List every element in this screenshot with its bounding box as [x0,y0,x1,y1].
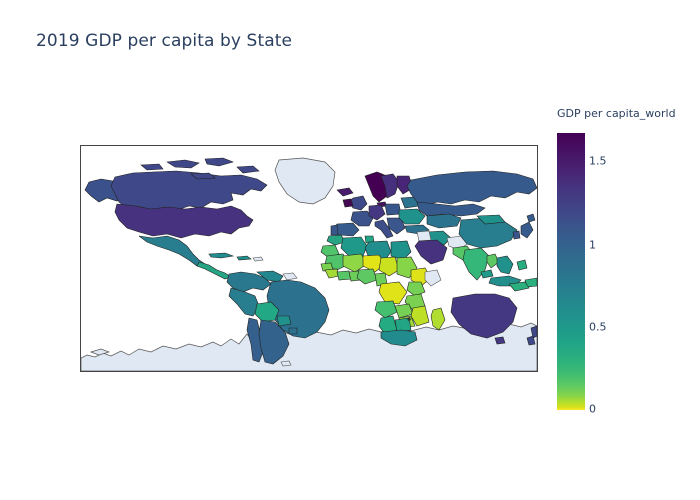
colorbar-tick-4: 0 [589,403,596,416]
colorbar-tick-1: 1.5 [589,155,607,168]
page-title: 2019 GDP per capita by State [36,31,292,51]
colorbar-tick-3: 0.5 [589,321,607,334]
colorbar-tick-2: 1 [589,239,596,252]
colorbar-gradient[interactable] [557,133,585,410]
world-map-svg [81,146,537,371]
region-north-america[interactable] [85,158,353,279]
choropleth-map[interactable] [80,145,538,372]
colorbar-title: GDP per capita_world [557,107,676,120]
